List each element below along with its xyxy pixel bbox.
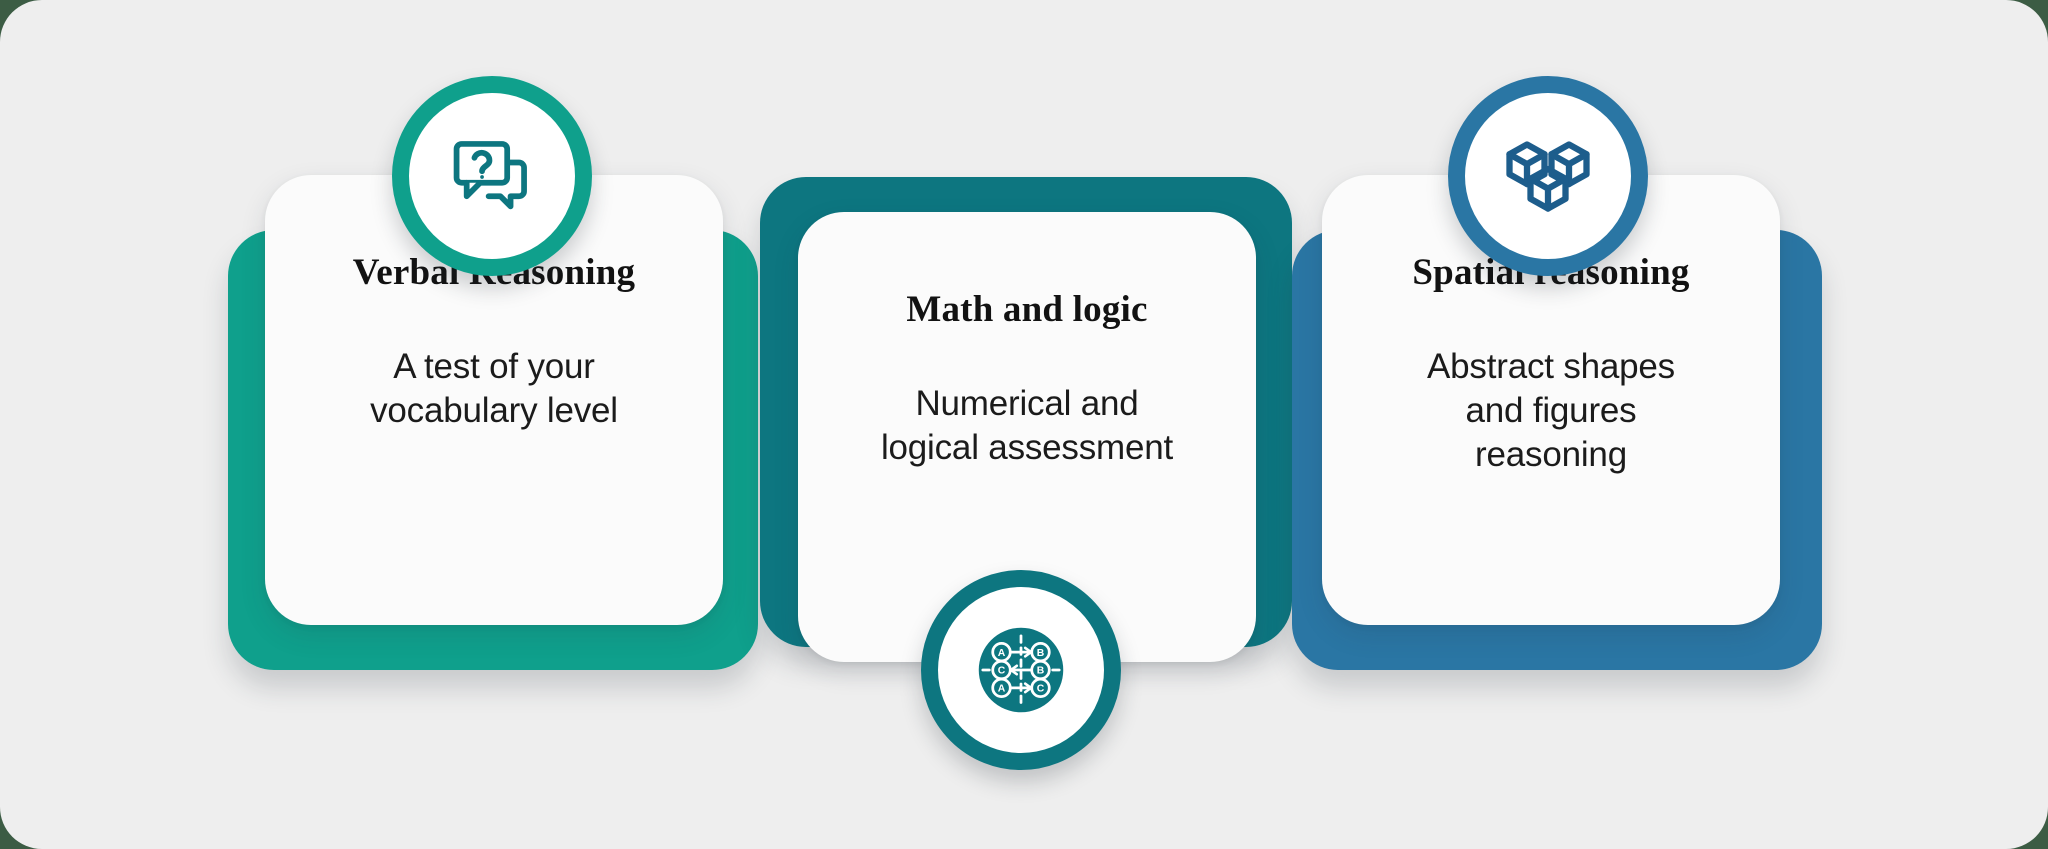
icon-badge-verbal[interactable]: [392, 76, 592, 276]
icon-badge-spatial[interactable]: [1448, 76, 1648, 276]
card-desc-line: logical assessment: [881, 426, 1173, 470]
card-desc-line: and figures: [1427, 389, 1675, 433]
node-label: A: [998, 648, 1006, 659]
card-desc-verbal: A test of your vocabulary level: [370, 345, 618, 433]
infographic-canvas: Verbal Reasoning A test of your vocabula…: [0, 0, 2048, 849]
node-label: C: [998, 666, 1006, 677]
card-desc-line: reasoning: [1427, 433, 1675, 477]
title-slot-math: Math and logic: [906, 290, 1147, 382]
logic-node-diagram-icon: A B C B A C: [969, 618, 1073, 722]
desc-slot-math: Numerical and logical assessment: [847, 382, 1207, 470]
card-desc-spatial: Abstract shapes and figures reasoning: [1427, 345, 1675, 477]
card-desc-line: A test of your: [370, 345, 618, 389]
node-label: B: [1037, 648, 1045, 659]
card-title-math: Math and logic: [906, 290, 1147, 331]
desc-slot-spatial: Abstract shapes and figures reasoning: [1393, 345, 1709, 477]
speech-bubbles-question-icon: [438, 122, 546, 230]
node-label: B: [1037, 666, 1045, 677]
card-desc-line: Abstract shapes: [1427, 345, 1675, 389]
node-label: C: [1037, 684, 1045, 695]
card-desc-line: Numerical and: [881, 382, 1173, 426]
node-label: A: [998, 684, 1006, 695]
card-rail: Verbal Reasoning A test of your vocabula…: [0, 0, 2048, 849]
icon-badge-math[interactable]: A B C B A C: [921, 570, 1121, 770]
isometric-cubes-icon: [1492, 120, 1604, 232]
card-desc-math: Numerical and logical assessment: [881, 382, 1173, 470]
desc-slot-verbal: A test of your vocabulary level: [336, 345, 652, 433]
card-desc-line: vocabulary level: [370, 389, 618, 433]
